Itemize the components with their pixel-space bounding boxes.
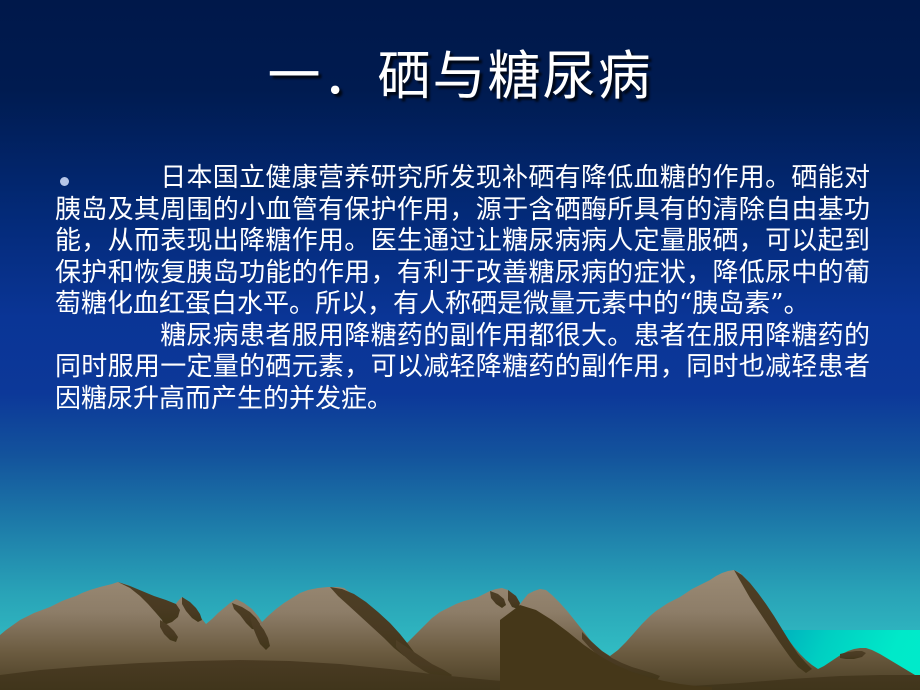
body-paragraph-1: 日本国立健康营养研究所发现补硒有降低血糖的作用。硒能对胰岛及其周围的小血管有保护… bbox=[55, 163, 870, 321]
bullet-dot-icon bbox=[60, 177, 69, 186]
slide-title: 一．硒与糖尿病 bbox=[60, 48, 860, 106]
bullet-list-item: 日本国立健康营养研究所发现补硒有降低血糖的作用。硒能对胰岛及其周围的小血管有保护… bbox=[55, 163, 870, 415]
body-paragraph-2: 糖尿病患者服用降糖药的副作用都很大。患者在服用降糖药的同时服用一定量的硒元素，可… bbox=[55, 321, 870, 416]
presentation-slide: 一．硒与糖尿病 日本国立健康营养研究所发现补硒有降低血糖的作用。硒能对胰岛及其周… bbox=[0, 0, 920, 690]
mountain-range-graphic bbox=[0, 470, 920, 690]
slide-body: 日本国立健康营养研究所发现补硒有降低血糖的作用。硒能对胰岛及其周围的小血管有保护… bbox=[55, 163, 870, 415]
